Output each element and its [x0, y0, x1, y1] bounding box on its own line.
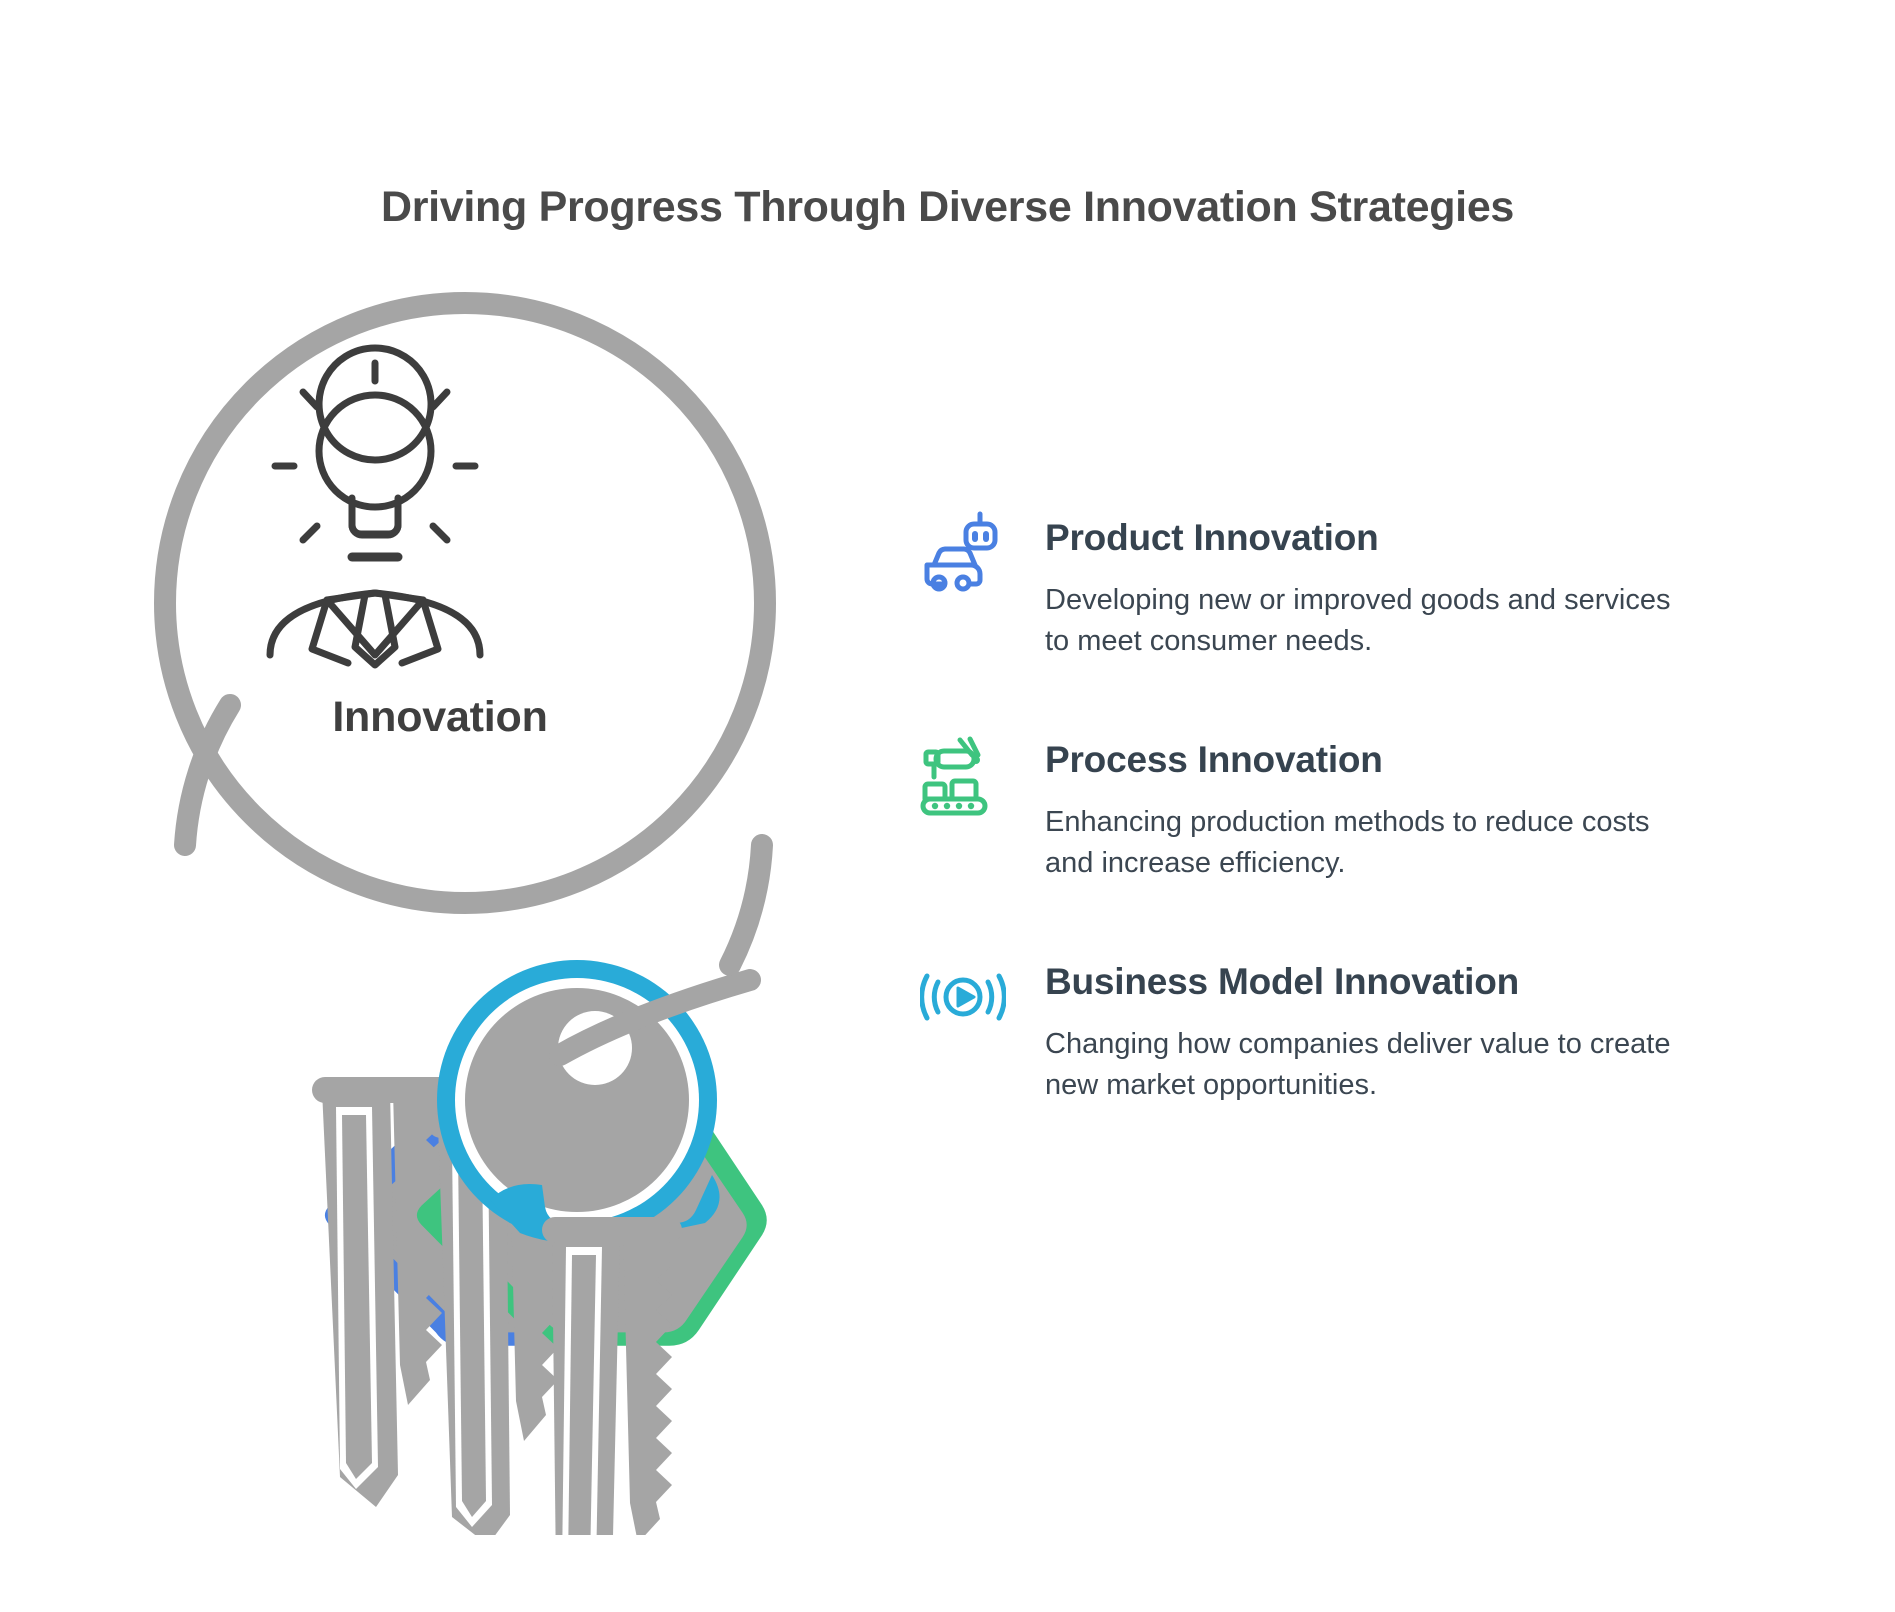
autonomous-car-icon	[920, 511, 1006, 597]
infographic-page: Driving Progress Through Diverse Innovat…	[0, 0, 1895, 1612]
item-description: Developing new or improved goods and ser…	[1045, 580, 1700, 662]
item-title: Product Innovation	[1045, 505, 1700, 560]
lightbulb-person-icon	[270, 348, 480, 665]
item-title: Process Innovation	[1045, 727, 1700, 782]
broadcast-play-icon	[920, 955, 1006, 1041]
key-ring-circle	[165, 303, 765, 903]
center-label: Innovation	[230, 693, 650, 742]
list-item-business-model-innovation[interactable]: Business Model Innovation Changing how c…	[910, 949, 1700, 1119]
keyring-illustration	[90, 245, 850, 1535]
page-title: Driving Progress Through Diverse Innovat…	[0, 183, 1895, 232]
item-description: Enhancing production methods to reduce c…	[1045, 802, 1700, 884]
innovation-items-list: Product Innovation Developing new or imp…	[910, 505, 1700, 1171]
item-description: Changing how companies deliver value to …	[1045, 1024, 1700, 1106]
list-item-process-innovation[interactable]: Process Innovation Enhancing production …	[910, 727, 1700, 897]
list-item-product-innovation[interactable]: Product Innovation Developing new or imp…	[910, 505, 1700, 675]
item-title: Business Model Innovation	[1045, 949, 1700, 1004]
robotic-arm-conveyor-icon	[920, 733, 1006, 819]
